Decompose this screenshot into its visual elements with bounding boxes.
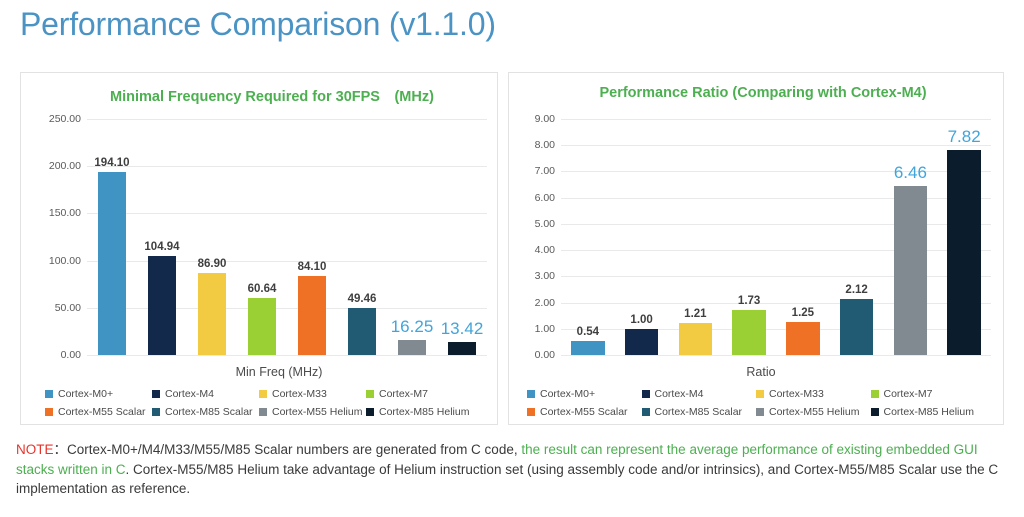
bar-value-label: 1.25 [792,307,814,319]
legend-item[interactable]: Cortex-M85 Scalar [152,406,259,418]
y-axis-tick-label: 250.00 [25,113,81,125]
legend-label: Cortex-M55 Scalar [58,406,146,418]
legend-swatch-icon [642,390,650,398]
bar-value-label: 1.21 [684,308,706,320]
page-title: Performance Comparison (v1.1.0) [20,6,496,43]
legend-swatch-icon [259,390,267,398]
legend-item[interactable]: Cortex-M85 Helium [871,406,986,418]
bar[interactable]: 2.12 [840,299,873,355]
legend-item[interactable]: Cortex-M55 Helium [756,406,871,418]
y-axis-tick-label: 9.00 [513,113,555,125]
bar[interactable]: 13.42 [448,342,476,355]
gridline [87,355,487,356]
y-axis-tick-label: 6.00 [513,192,555,204]
gridline [561,355,991,356]
legend-item[interactable]: Cortex-M55 Scalar [45,406,152,418]
bar-slot: 16.25 [387,119,437,355]
bar-slot: 13.42 [437,119,487,355]
bar-slot: 1.73 [722,119,776,355]
footnote-part1: ：Cortex-M0+/M4/M33/M55/M85 Scalar number… [54,442,522,457]
legend-swatch-icon [871,408,879,416]
bar[interactable]: 194.10 [98,172,126,355]
y-axis-tick-label: 4.00 [513,244,555,256]
bar-slot: 1.00 [615,119,669,355]
chart-legend-min-frequency: Cortex-M0+Cortex-M4Cortex-M33Cortex-M7Co… [21,388,497,418]
legend-item[interactable]: Cortex-M7 [871,388,986,400]
bar[interactable]: 1.25 [786,322,819,355]
bar-group: 194.10104.9486.9060.6484.1049.4616.2513.… [87,119,487,355]
legend-swatch-icon [756,408,764,416]
bar-value-label: 49.46 [348,293,377,305]
legend-swatch-icon [45,390,53,398]
legend-item[interactable]: Cortex-M33 [756,388,871,400]
legend-item[interactable]: Cortex-M7 [366,388,473,400]
bar[interactable]: 1.00 [625,329,658,355]
chart-panel-performance-ratio: Performance Ratio (Comparing with Cortex… [508,72,1004,425]
bar-slot: 1.25 [776,119,830,355]
chart-title-performance-ratio: Performance Ratio (Comparing with Cortex… [509,85,1003,101]
legend-label: Cortex-M33 [272,388,327,400]
y-axis-tick-label: 7.00 [513,165,555,177]
legend-swatch-icon [527,408,535,416]
footnote-part2: . Cortex-M55/M85 Helium take advantage o… [16,462,998,497]
y-axis-tick-label: 0.00 [513,349,555,361]
bar-value-label: 2.12 [845,284,867,296]
bar-slot: 104.94 [137,119,187,355]
legend-item[interactable]: Cortex-M85 Scalar [642,406,757,418]
legend-swatch-icon [366,408,374,416]
legend-label: Cortex-M0+ [58,388,113,400]
bar-slot: 1.21 [669,119,723,355]
bar-value-label: 0.54 [577,326,599,338]
legend-label: Cortex-M85 Scalar [655,406,743,418]
bar[interactable]: 1.21 [679,323,712,355]
legend-swatch-icon [45,408,53,416]
legend-label: Cortex-M85 Scalar [165,406,253,418]
bar-value-label: 1.73 [738,295,760,307]
bar-group: 0.541.001.211.731.252.126.467.82 [561,119,991,355]
legend-label: Cortex-M85 Helium [884,406,974,418]
x-axis-title-min-frequency: Min Freq (MHz) [21,365,497,379]
bar-slot: 60.64 [237,119,287,355]
plot-area-min-frequency: 0.0050.00100.00150.00200.00250.00194.101… [87,119,487,355]
bar[interactable]: 84.10 [298,276,326,355]
bar[interactable]: 0.54 [571,341,604,355]
bar-value-label: 6.46 [894,163,927,183]
bar[interactable]: 104.94 [148,256,176,355]
legend-label: Cortex-M7 [379,388,428,400]
footnote: NOTE：Cortex-M0+/M4/M33/M55/M85 Scalar nu… [16,440,1011,499]
bar[interactable]: 1.73 [732,310,765,355]
bar-value-label: 84.10 [298,261,327,273]
bar-value-label: 194.10 [94,157,129,169]
legend-swatch-icon [152,408,160,416]
bar[interactable]: 49.46 [348,308,376,355]
legend-label: Cortex-M7 [884,388,933,400]
bar-slot: 2.12 [830,119,884,355]
legend-swatch-icon [366,390,374,398]
bar-slot: 49.46 [337,119,387,355]
bar-slot: 84.10 [287,119,337,355]
bar[interactable]: 7.82 [947,150,980,355]
legend-label: Cortex-M4 [165,388,214,400]
bar-slot: 86.90 [187,119,237,355]
bar-slot: 0.54 [561,119,615,355]
chart-title-min-frequency: Minimal Frequency Required for 30FPS (MH… [21,85,497,106]
legend-item[interactable]: Cortex-M0+ [527,388,642,400]
legend-swatch-icon [642,408,650,416]
bar-value-label: 1.00 [630,314,652,326]
legend-swatch-icon [871,390,879,398]
chart-panel-min-frequency: Minimal Frequency Required for 30FPS (MH… [20,72,498,425]
legend-label: Cortex-M85 Helium [379,406,469,418]
legend-item[interactable]: Cortex-M4 [152,388,259,400]
legend-item[interactable]: Cortex-M33 [259,388,366,400]
x-axis-title-performance-ratio: Ratio [509,365,1003,379]
y-axis-tick-label: 8.00 [513,139,555,151]
y-axis-tick-label: 3.00 [513,270,555,282]
bar[interactable]: 6.46 [894,186,927,355]
legend-label: Cortex-M0+ [540,388,595,400]
legend-swatch-icon [756,390,764,398]
bar-slot: 194.10 [87,119,137,355]
bar-slot: 7.82 [937,119,991,355]
legend-swatch-icon [152,390,160,398]
bar[interactable]: 86.90 [198,273,226,355]
legend-label: Cortex-M55 Helium [272,406,362,418]
legend-label: Cortex-M33 [769,388,824,400]
legend-label: Cortex-M55 Helium [769,406,859,418]
legend-item[interactable]: Cortex-M55 Helium [259,406,366,418]
bar[interactable]: 16.25 [398,340,426,355]
legend-item[interactable]: Cortex-M85 Helium [366,406,473,418]
y-axis-tick-label: 150.00 [25,207,81,219]
bar-value-label: 104.94 [144,241,179,253]
bar[interactable]: 60.64 [248,298,276,355]
legend-swatch-icon [527,390,535,398]
legend-label: Cortex-M55 Scalar [540,406,628,418]
y-axis-tick-label: 100.00 [25,255,81,267]
bar-value-label: 13.42 [441,319,484,339]
y-axis-tick-label: 2.00 [513,297,555,309]
legend-item[interactable]: Cortex-M55 Scalar [527,406,642,418]
legend-item[interactable]: Cortex-M4 [642,388,757,400]
footnote-keyword: NOTE [16,442,54,457]
legend-swatch-icon [259,408,267,416]
plot-area-performance-ratio: 0.001.002.003.004.005.006.007.008.009.00… [561,119,991,355]
y-axis-tick-label: 50.00 [25,302,81,314]
y-axis-tick-label: 0.00 [25,349,81,361]
bar-value-label: 7.82 [948,127,981,147]
bar-value-label: 60.64 [248,283,277,295]
legend-label: Cortex-M4 [655,388,704,400]
y-axis-tick-label: 200.00 [25,160,81,172]
bar-value-label: 16.25 [391,317,434,337]
bar-value-label: 86.90 [198,258,227,270]
legend-item[interactable]: Cortex-M0+ [45,388,152,400]
chart-legend-performance-ratio: Cortex-M0+Cortex-M4Cortex-M33Cortex-M7Co… [509,388,1003,418]
bar-slot: 6.46 [884,119,938,355]
y-axis-tick-label: 5.00 [513,218,555,230]
y-axis-tick-label: 1.00 [513,323,555,335]
